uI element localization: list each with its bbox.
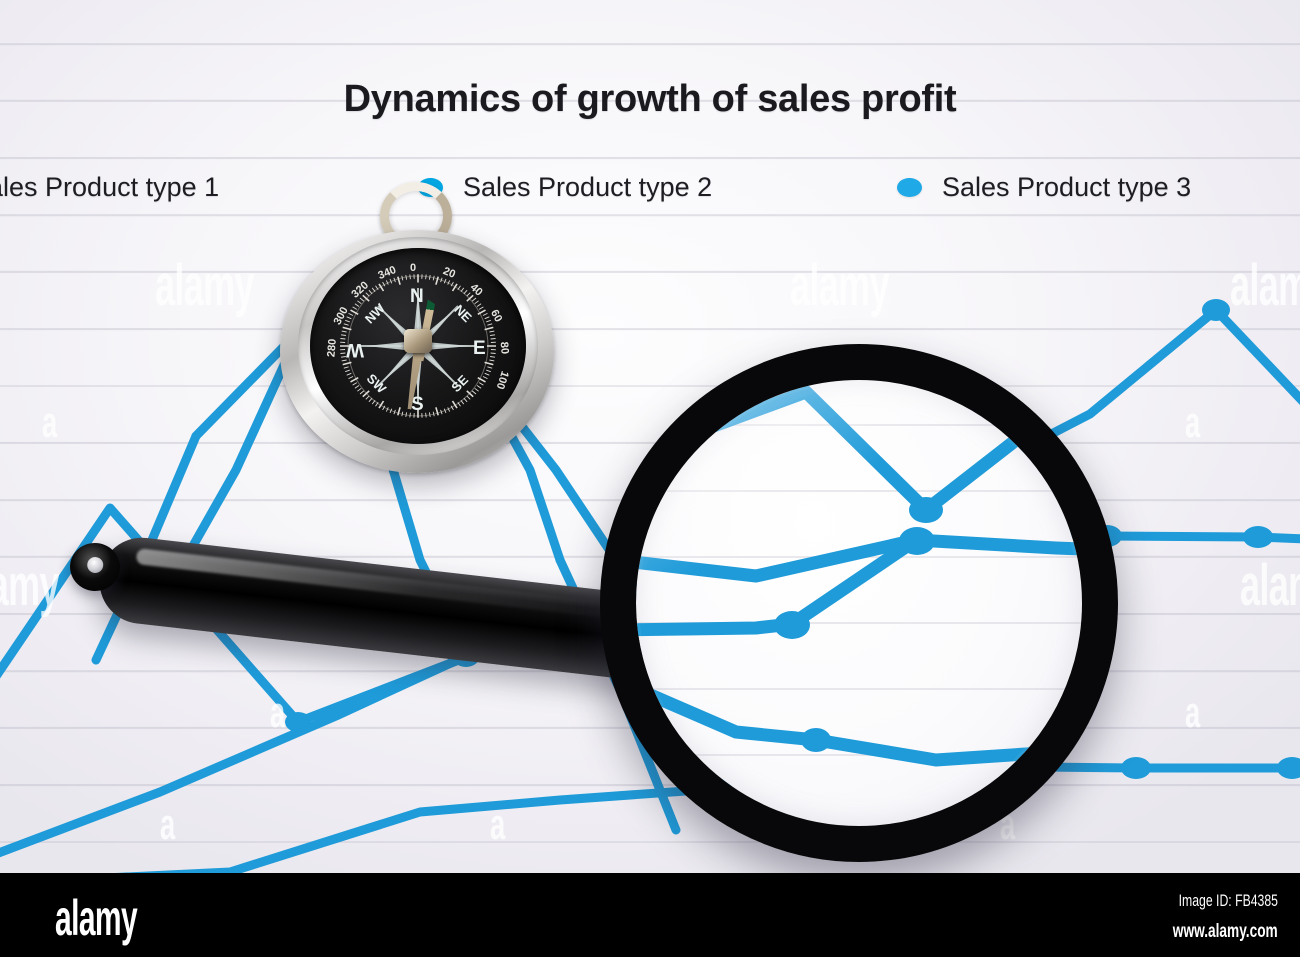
magnifier-handle-highlight — [136, 548, 654, 623]
alamy-footer-bar: alamy Image ID: FB4385 www.alamy.com — [0, 873, 1300, 957]
magnifying-glass — [60, 338, 1170, 868]
alamy-url: www.alamy.com — [1173, 921, 1278, 943]
chart-title: Dynamics of growth of sales profit — [0, 78, 1300, 121]
chart-legend: ales Product type 1 Sales Product type 2… — [0, 172, 1300, 214]
data-point — [1277, 757, 1300, 779]
chart-photograph: alamy alamy alamy alamy alamy alamy a a … — [0, 0, 1300, 873]
data-point — [1243, 526, 1273, 548]
legend-label: Sales Product type 3 — [942, 172, 1191, 203]
legend-label: ales Product type 1 — [0, 172, 219, 203]
alamy-logo: alamy — [55, 889, 137, 947]
legend-item-product-type-3: Sales Product type 3 — [897, 172, 1191, 203]
compass-degree-0: 0 — [410, 262, 416, 274]
data-point — [1202, 299, 1230, 321]
image-id-text: Image ID: FB4385 — [1179, 891, 1278, 911]
legend-dot-icon — [897, 178, 922, 197]
magnifier-rim — [600, 344, 1118, 862]
screenshot-root: alamy alamy alamy alamy alamy alamy a a … — [0, 0, 1300, 957]
legend-item-product-type-1: ales Product type 1 — [0, 172, 219, 203]
compass-cardinal-n: N — [410, 286, 424, 308]
